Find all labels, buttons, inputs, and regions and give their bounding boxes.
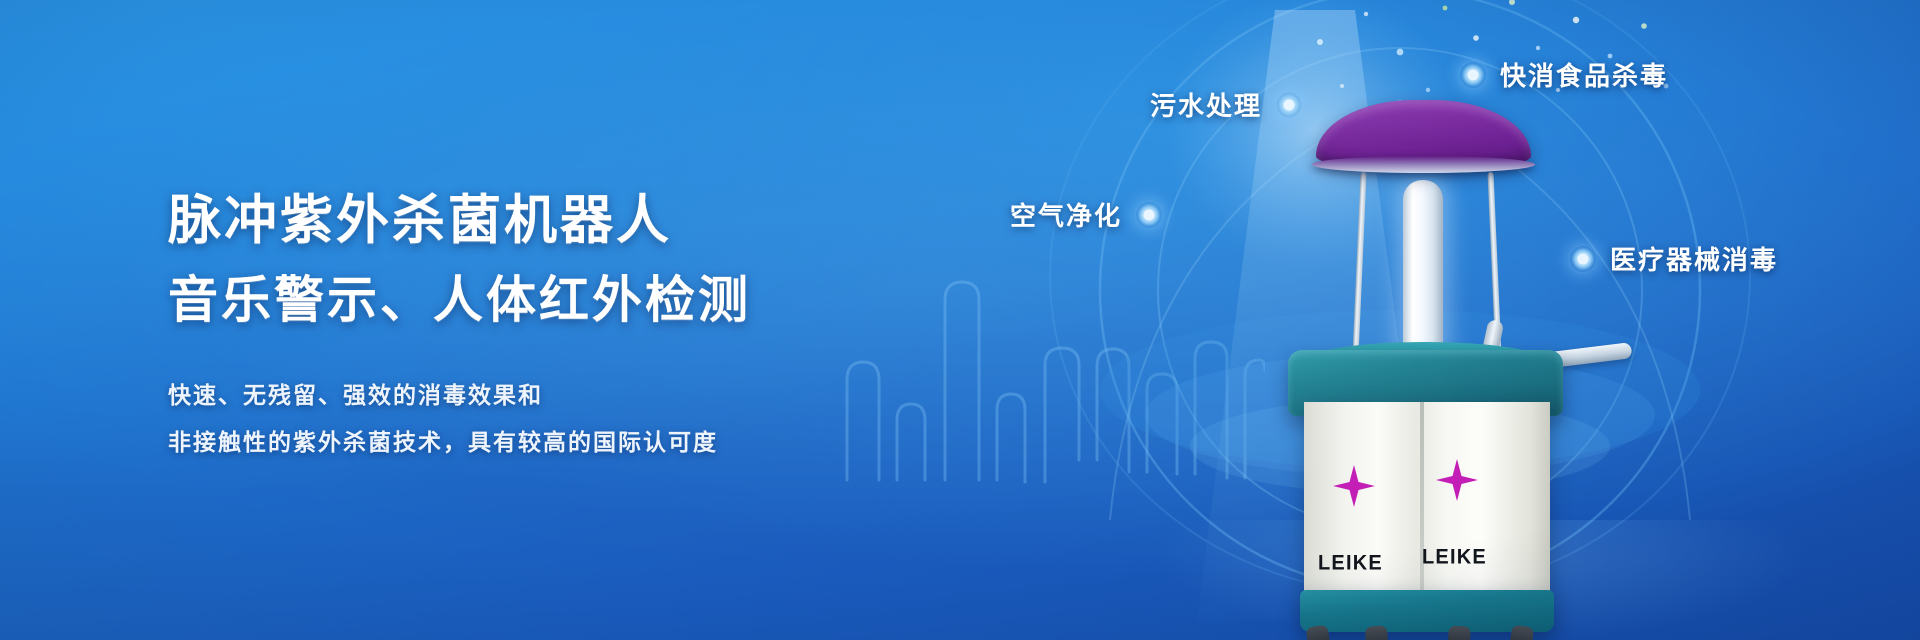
- banner-copy: 脉冲紫外杀菌机器人 音乐警示、人体红外检测 快速、无残留、强效的消毒效果和 非接…: [168, 190, 928, 466]
- description-line-2: 非接触性的紫外杀菌技术，具有较高的国际认可度: [168, 419, 928, 466]
- callout-label: 污水处理: [1150, 86, 1262, 123]
- brand-label: LEIKE: [1422, 545, 1487, 569]
- callout-label: 快消食品杀毒: [1500, 56, 1668, 93]
- caster-wheel: [1447, 625, 1471, 640]
- sparkle-logo-icon: [1435, 458, 1479, 502]
- banner-description: 快速、无残留、强效的消毒效果和 非接触性的紫外杀菌技术，具有较高的国际认可度: [168, 372, 928, 466]
- callout-air-purification: 空气净化: [1010, 196, 1162, 233]
- callout-fast-moving-food-disinfection: 快消食品杀毒: [1460, 56, 1668, 93]
- callout-label: 空气净化: [1010, 196, 1122, 233]
- caster-wheel: [1365, 625, 1389, 640]
- description-line-1: 快速、无残留、强效的消毒效果和: [168, 372, 928, 419]
- cap-rim: [1312, 156, 1535, 173]
- sparkle-logo-icon: [1332, 464, 1376, 508]
- uv-disinfection-robot: LEIKE LEIKE: [1270, 92, 1690, 612]
- product-banner: 脉冲紫外杀菌机器人 音乐警示、人体红外检测 快速、无残留、强效的消毒效果和 非接…: [0, 0, 1920, 640]
- headline-line-1: 脉冲紫外杀菌机器人: [168, 190, 928, 253]
- callout-dot-icon: [1460, 62, 1486, 88]
- callout-dot-icon: [1136, 202, 1162, 228]
- brand-label: LEIKE: [1318, 551, 1383, 575]
- headline-line-2: 音乐警示、人体红外检测: [168, 271, 928, 330]
